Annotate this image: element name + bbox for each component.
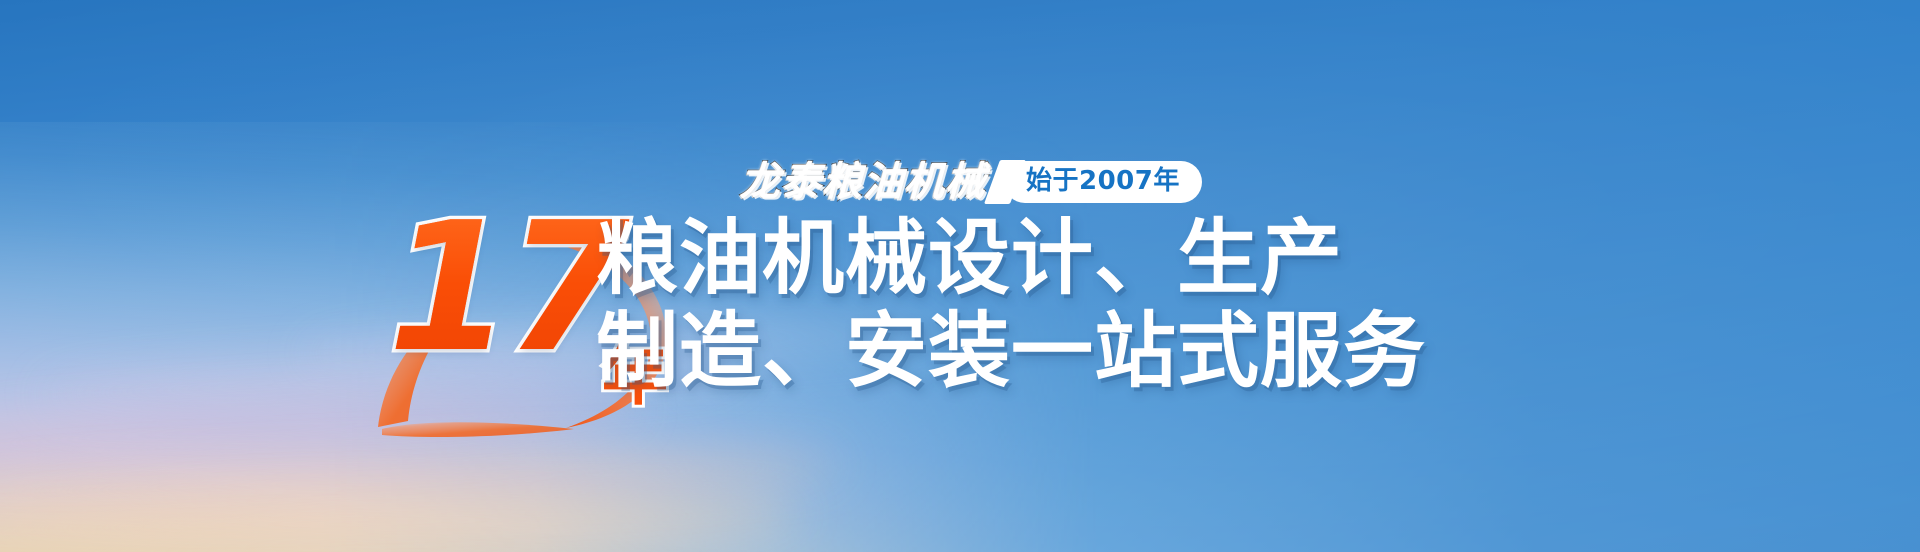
brand-name: 龙泰粮油机械: [739, 162, 986, 202]
headline-block: 粮油机械设计、生产 制造、安装一站式服务: [596, 212, 1426, 399]
headline-line-2: 制造、安装一站式服务: [596, 305, 1426, 398]
founded-year-badge: 始于2007年: [1004, 161, 1202, 203]
headline-line-1: 粮油机械设计、生产: [596, 212, 1426, 305]
anniversary-number: 17: [388, 199, 624, 377]
brand-logo-row: 龙泰粮油机械 始于2007年: [740, 160, 1202, 204]
promotional-banner: 龙泰粮油机械 始于2007年: [0, 0, 1920, 552]
